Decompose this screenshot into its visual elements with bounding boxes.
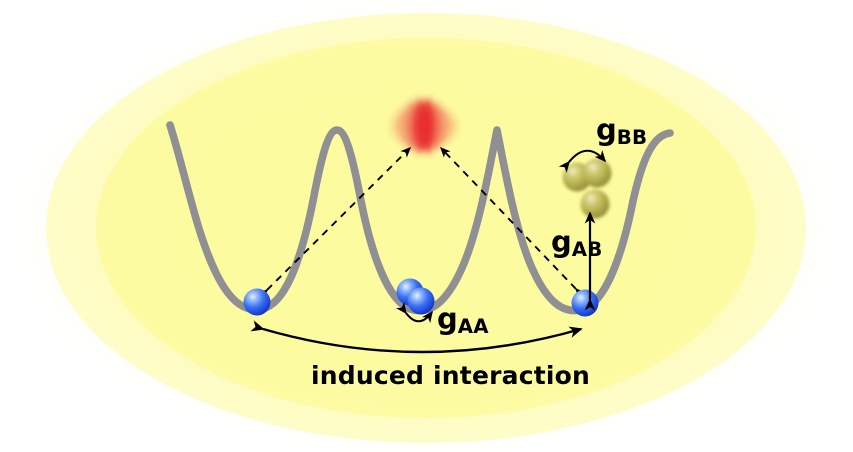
bath-atoms xyxy=(563,159,612,219)
induced-interaction-arrow xyxy=(263,329,581,352)
wavepacket-excitation xyxy=(391,98,458,154)
label-g-ab: gAB xyxy=(551,228,602,257)
label-g-aa-base: g xyxy=(437,302,458,336)
label-g-aa: gAA xyxy=(437,305,489,334)
label-g-ab-base: g xyxy=(551,225,572,259)
label-g-bb-sub: BB xyxy=(617,126,647,149)
figure-canvas: gBB gAB gAA induced interaction xyxy=(0,0,853,452)
label-g-aa-sub: AA xyxy=(458,315,489,338)
dashed-arrow-left xyxy=(267,148,410,290)
impurity-atom-middle-b xyxy=(408,288,435,315)
bath-atom-upper-right xyxy=(583,159,612,188)
impurity-atom-left xyxy=(244,289,271,316)
impurity-atom-right xyxy=(572,290,599,317)
label-g-bb-base: g xyxy=(596,113,617,147)
bath-atom-lower xyxy=(581,190,610,219)
label-induced-interaction: induced interaction xyxy=(311,363,590,388)
label-g-bb: gBB xyxy=(596,116,647,145)
label-g-ab-sub: AB xyxy=(572,238,603,261)
